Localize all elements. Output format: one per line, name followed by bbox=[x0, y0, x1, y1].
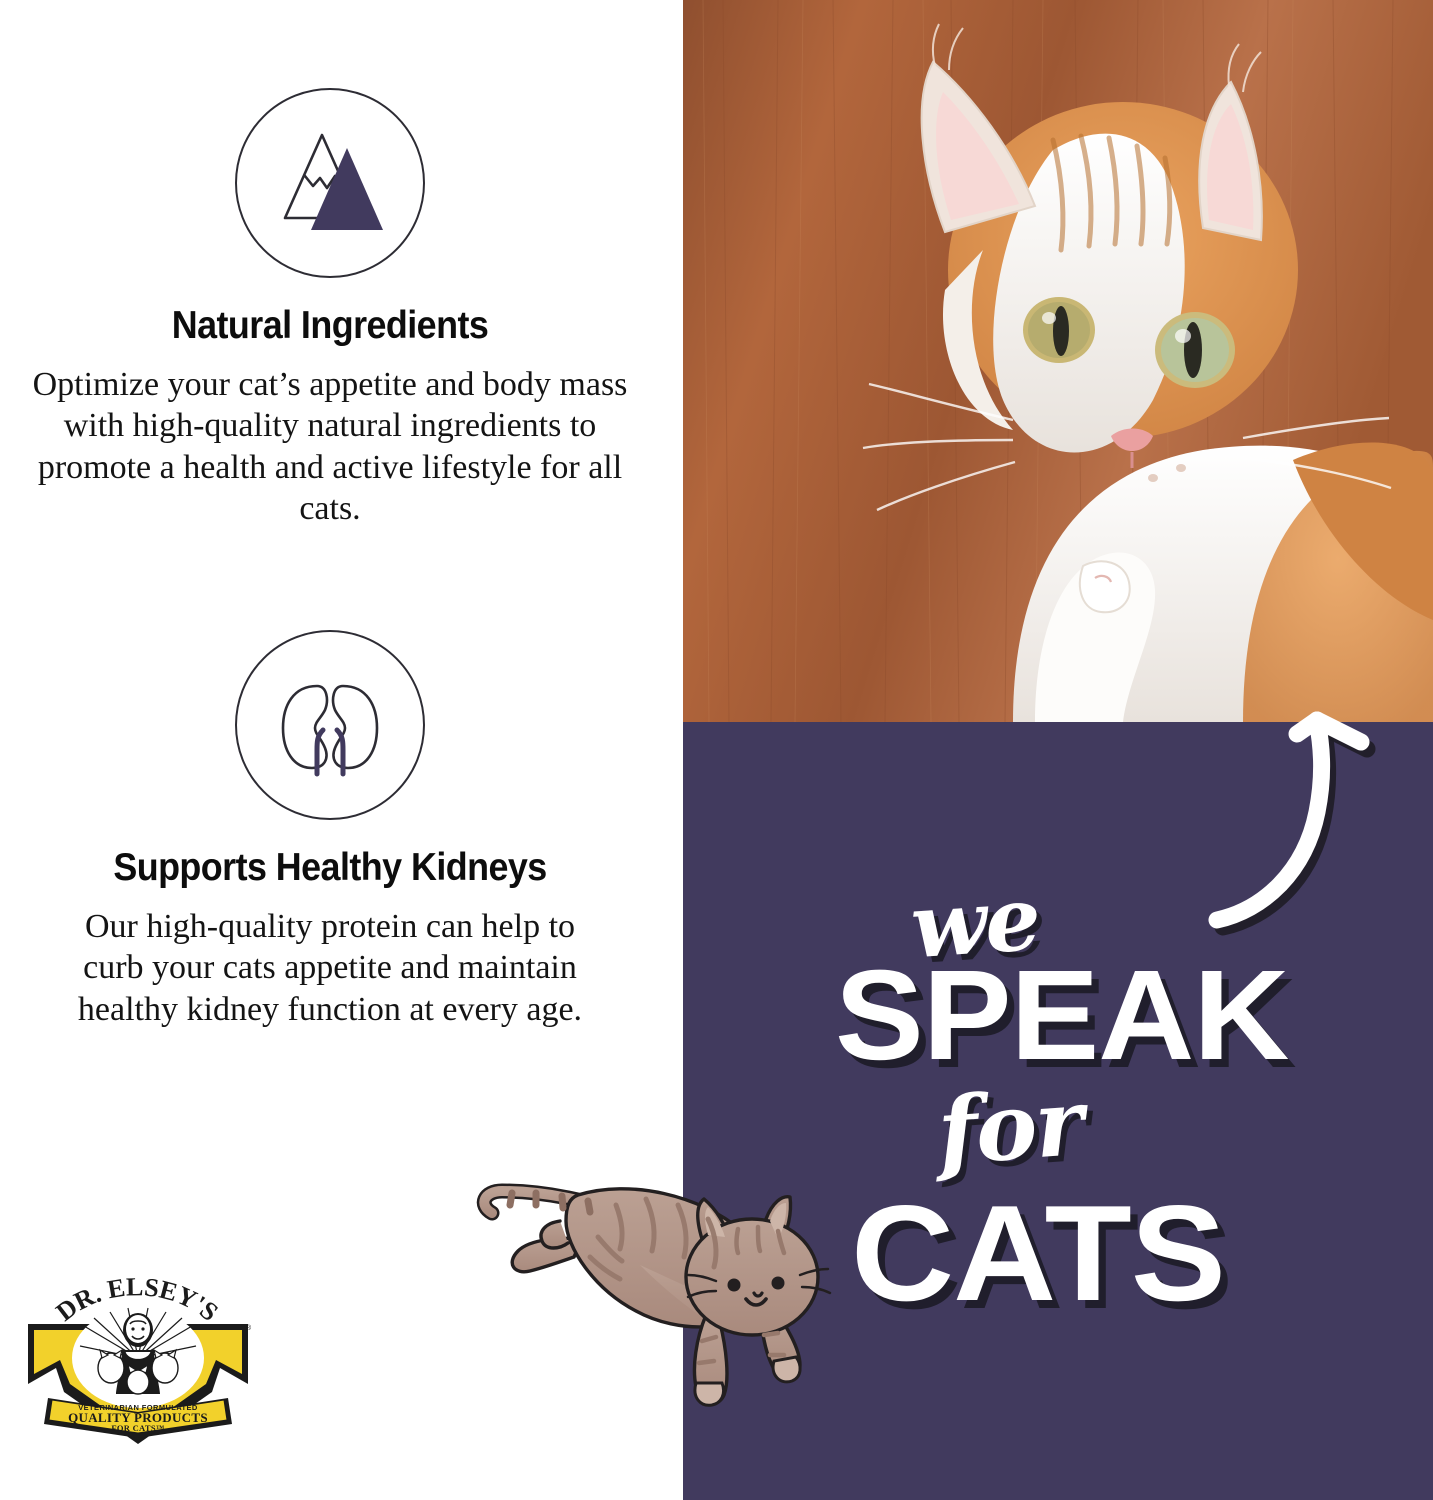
feature-natural-ingredients: Natural Ingredients Optimize your cat’s … bbox=[0, 88, 660, 530]
registered-mark: ® bbox=[246, 1324, 252, 1332]
slogan-word-speak: SPEAK bbox=[835, 952, 1288, 1080]
mountains-icon bbox=[235, 88, 425, 278]
feature-title: Natural Ingredients bbox=[26, 304, 633, 348]
kidneys-icon bbox=[235, 630, 425, 820]
hero-cat-photo bbox=[683, 0, 1433, 722]
product-infographic-page: Natural Ingredients Optimize your cat’s … bbox=[0, 0, 1433, 1500]
feature-body: Our high-quality protein can help to cur… bbox=[0, 906, 660, 1030]
slogan-word-cats: CATS bbox=[851, 1185, 1225, 1321]
slogan-word-for: for bbox=[934, 1068, 1085, 1186]
feature-supports-healthy-kidneys: Supports Healthy Kidneys Our high-qualit… bbox=[0, 630, 660, 1030]
leaping-tabby-cat-illustration bbox=[470, 1165, 850, 1495]
feature-body: Optimize your cat’s appetite and body ma… bbox=[0, 364, 660, 530]
dr-elseys-logo: DR. ELSEY'S ® VETERINARIAN FORMULATED QU… bbox=[18, 1272, 258, 1444]
logo-tagline-line3: FOR CATS™ bbox=[111, 1423, 164, 1433]
feature-title: Supports Healthy Kidneys bbox=[26, 846, 633, 890]
